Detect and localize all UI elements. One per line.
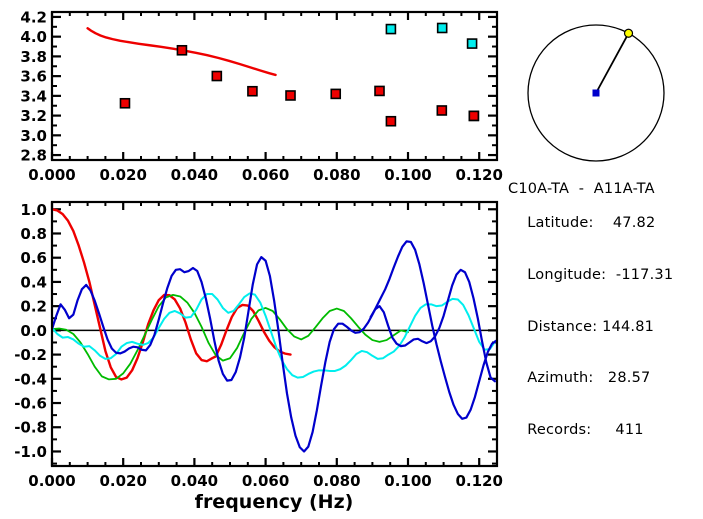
x-tick-label: 0.080: [313, 472, 360, 490]
y-tick-label: -1.0: [14, 443, 47, 461]
x-tick-label: 0.020: [99, 166, 146, 184]
y-tick-label: 0.4: [20, 273, 47, 291]
x-tick-label: 0.080: [313, 166, 360, 184]
data-point-marker: [248, 87, 257, 96]
dispersion-panel-plot-area: [52, 12, 497, 160]
azimuth-value: 28.57: [593, 370, 650, 386]
reference-station-marker: [593, 90, 600, 97]
data-point-marker: [386, 25, 395, 34]
x-tick-label: 0.100: [384, 472, 431, 490]
phase-velocity-cyan-markers: [386, 23, 476, 48]
y-tick-label: 4.0: [20, 28, 47, 46]
latitude-label: Latitude:: [527, 215, 593, 231]
azimuth-diagram-panel: [505, 0, 703, 180]
y-tick-label: -0.2: [14, 346, 47, 364]
y-tick-label: -0.8: [14, 419, 47, 437]
dispersion-chart-panel: 0.0000.0200.0400.0600.0800.1000.1202.83.…: [0, 0, 510, 190]
y-tick-label: 2.8: [20, 147, 47, 165]
x-axis-title: frequency (Hz): [195, 491, 354, 513]
data-point-marker: [120, 99, 129, 108]
info-row-distance: Distance: 144.81: [508, 301, 703, 353]
x-tick-label: 0.120: [455, 472, 502, 490]
y-tick-label: 0.0: [20, 322, 47, 340]
data-point-marker: [286, 91, 295, 100]
data-point-marker: [438, 23, 447, 32]
x-tick-label: 0.040: [171, 166, 218, 184]
cross-correlation-chart-panel: 0.0000.0200.0400.0600.0800.1000.120-1.0-…: [0, 190, 510, 519]
station-info-panel: C10A-TA - A11A-TA Latitude: 47.82 Longit…: [508, 181, 703, 291]
azimuth-ray: [596, 33, 629, 93]
azimuth-diagram-svg: [505, 0, 703, 180]
coherence-red: [52, 209, 216, 379]
distance-label: Distance:: [527, 319, 597, 335]
y-tick-label: -0.4: [14, 370, 47, 388]
y-tick-label: 3.6: [20, 68, 47, 86]
dispersion-panel-frame: [52, 12, 497, 160]
distance-value: 144.81: [597, 319, 654, 335]
longitude-label: Longitude:: [527, 267, 606, 283]
y-tick-label: 1.0: [20, 201, 47, 219]
info-row-records: Records: 411: [508, 405, 703, 457]
x-tick-label: 0.020: [99, 472, 146, 490]
y-tick-label: 0.2: [20, 298, 47, 316]
info-row-azimuth: Azimuth: 28.57: [508, 353, 703, 405]
records-label: Records:: [527, 422, 591, 438]
y-tick-label: -0.6: [14, 395, 47, 413]
group-velocity-red-markers: [120, 46, 478, 126]
data-point-marker: [469, 111, 478, 120]
x-tick-label: 0.040: [171, 472, 218, 490]
longitude-value: -117.31: [606, 267, 673, 283]
station-pair-title: C10A-TA - A11A-TA: [508, 181, 703, 198]
y-tick-label: 3.2: [20, 107, 47, 125]
x-tick-label: 0.060: [242, 472, 289, 490]
dispersion-chart-svg: 0.0000.0200.0400.0600.0800.1000.1202.83.…: [0, 0, 510, 190]
data-point-marker: [331, 89, 340, 98]
cross-correlation-chart-svg: 0.0000.0200.0400.0600.0800.1000.120-1.0-…: [0, 190, 510, 519]
cross-correlation-panel-frame: [52, 202, 497, 466]
data-point-marker: [177, 46, 186, 55]
y-tick-label: 0.8: [20, 225, 47, 243]
latitude-value: 47.82: [594, 215, 656, 231]
info-row-longitude: Longitude: -117.31: [508, 250, 703, 302]
data-point-marker: [468, 39, 477, 48]
x-tick-label: 0.120: [455, 166, 502, 184]
x-tick-label: 0.060: [242, 166, 289, 184]
coherence-green: [52, 295, 408, 380]
data-point-marker: [437, 106, 446, 115]
x-tick-label: 0.000: [28, 166, 75, 184]
y-tick-label: 3.8: [20, 48, 47, 66]
azimuth-label: Azimuth:: [527, 370, 593, 386]
data-point-marker: [375, 86, 384, 95]
y-tick-label: 0.6: [20, 249, 47, 267]
cross-correlation-panel-plot-area: [52, 202, 497, 466]
x-tick-label: 0.000: [28, 472, 75, 490]
y-tick-label: 3.0: [20, 127, 47, 145]
info-row-latitude: Latitude: 47.82: [508, 198, 703, 250]
destination-station-marker: [625, 29, 633, 37]
data-point-marker: [212, 72, 221, 81]
dispersion-panel-series-group: [88, 23, 479, 125]
y-tick-label: 4.2: [20, 8, 47, 26]
x-tick-label: 0.100: [384, 166, 431, 184]
y-tick-label: 3.4: [20, 87, 47, 105]
records-value: 411: [591, 422, 643, 438]
data-point-marker: [386, 117, 395, 126]
